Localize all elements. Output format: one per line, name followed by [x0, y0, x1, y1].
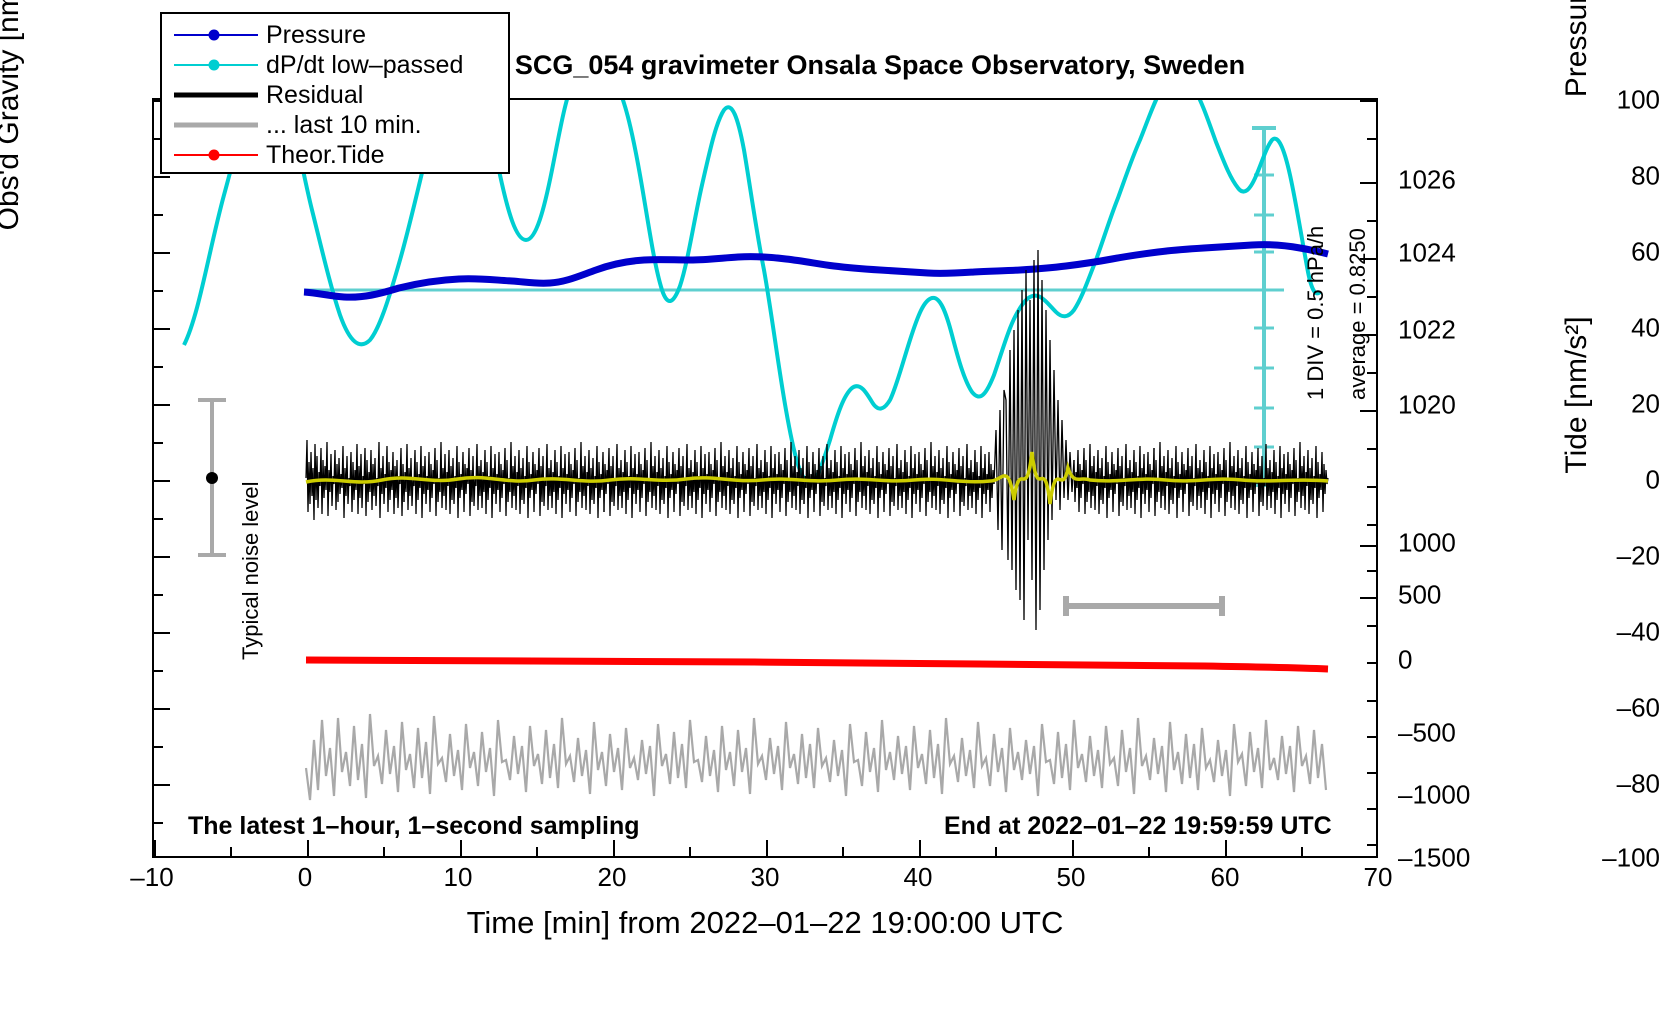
y-axis-label-left: Obs'd Gravity [nm/s²] — [0, 0, 26, 300]
x-tick-label: 10 — [444, 862, 473, 893]
legend-label: dP/dt low–passed — [266, 51, 463, 80]
y-tick-label: 20 — [1520, 389, 1660, 420]
legend-swatch-theortide — [162, 140, 266, 170]
y-tick-label: –60 — [1520, 693, 1660, 724]
average-annotation: average = 0.8250 — [1345, 228, 1371, 400]
x-tick-label: 50 — [1057, 862, 1086, 893]
x-tick-label: 40 — [904, 862, 933, 893]
pressure-tick-label: 1022 — [1398, 315, 1456, 346]
y-tick-label: –20 — [1520, 541, 1660, 572]
noise-level-annotation: Typical noise level — [238, 481, 264, 660]
y-tick-label: 100 — [1520, 85, 1660, 116]
legend-item-pressure[interactable]: Pressure — [162, 20, 508, 50]
caption-right: End at 2022–01–22 19:59:59 UTC — [944, 812, 1332, 841]
legend-label: ... last 10 min. — [266, 111, 422, 140]
legend-label: Theor.Tide — [266, 141, 385, 170]
last-10-min-bar — [1066, 596, 1222, 616]
pressure-tick-label: 1026 — [1398, 165, 1456, 196]
div-scale-annotation: 1 DIV = 0.5 hPa/h — [1303, 226, 1329, 400]
tide-tick-label: –1000 — [1398, 780, 1470, 811]
legend-label: Pressure — [266, 21, 366, 50]
legend-item-theortide[interactable]: Theor.Tide — [162, 140, 508, 170]
y-tick-label: 60 — [1520, 237, 1660, 268]
x-tick-label: –10 — [130, 862, 173, 893]
caption-left: The latest 1–hour, 1–second sampling — [188, 812, 640, 841]
pressure-tick-label: 1000 — [1398, 528, 1456, 559]
theor-tide-curve — [306, 660, 1328, 669]
x-tick-label: 0 — [298, 862, 312, 893]
legend-swatch-last10min — [162, 110, 266, 140]
legend-label: Residual — [266, 81, 363, 110]
x-tick-label: 70 — [1364, 862, 1393, 893]
legend: Pressure dP/dt low–passed Residual ... l… — [160, 12, 510, 174]
legend-swatch-pressure — [162, 20, 266, 50]
y-tick-label: 80 — [1520, 161, 1660, 192]
y-tick-label: –100 — [1520, 843, 1660, 874]
y-tick-label: –80 — [1520, 769, 1660, 800]
y-tick-label: –40 — [1520, 617, 1660, 648]
y-axis-label-right-pressure: Pressure [hPa] — [1560, 0, 1594, 148]
legend-swatch-dpdt — [162, 50, 266, 80]
residual-band — [306, 250, 1328, 630]
pressure-tick-label: 1020 — [1398, 390, 1456, 421]
plot-area: Typical noise level The latest 1–hour, 1… — [152, 98, 1378, 858]
x-tick-label: 60 — [1211, 862, 1240, 893]
tide-tick-label: –500 — [1398, 718, 1456, 749]
tide-tick-label: –1500 — [1398, 843, 1470, 874]
x-axis-label: Time [min] from 2022–01–22 19:00:00 UTC — [152, 905, 1378, 941]
last10min-trace — [306, 714, 1326, 800]
legend-item-residual[interactable]: Residual — [162, 80, 508, 110]
tide-tick-label: 500 — [1398, 580, 1441, 611]
x-tick-label: 30 — [751, 862, 780, 893]
legend-swatch-residual — [162, 80, 266, 110]
y-tick-label: 40 — [1520, 313, 1660, 344]
data-curves — [154, 100, 1376, 856]
y-tick-label: 0 — [1520, 465, 1660, 496]
pressure-tick-label: 1024 — [1398, 238, 1456, 269]
legend-item-last10min[interactable]: ... last 10 min. — [162, 110, 508, 140]
tide-tick-label: 0 — [1398, 645, 1412, 676]
page-title: SCG_054 gravimeter Onsala Space Observat… — [380, 50, 1380, 81]
legend-item-dpdt[interactable]: dP/dt low–passed — [162, 50, 508, 80]
x-tick-label: 20 — [598, 862, 627, 893]
noise-level-dot — [206, 472, 218, 484]
